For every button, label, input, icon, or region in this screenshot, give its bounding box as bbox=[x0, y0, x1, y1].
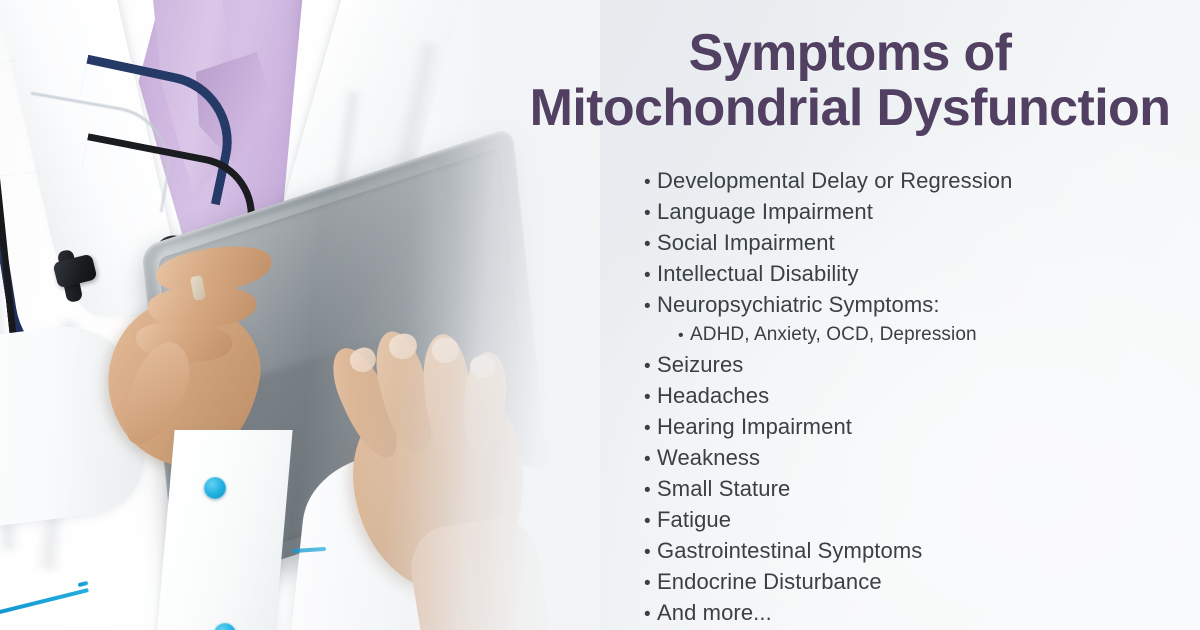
list-item-label: ADHD, Anxiety, OCD, Depression bbox=[690, 321, 977, 349]
bullet-icon: • bbox=[644, 507, 657, 536]
list-item-label: Fatigue bbox=[657, 505, 731, 534]
bullet-icon: • bbox=[644, 199, 657, 228]
bullet-icon: • bbox=[644, 168, 657, 197]
coat-button bbox=[204, 477, 226, 499]
bullet-icon: • bbox=[644, 292, 657, 321]
list-item: •Language Impairment bbox=[644, 197, 1200, 228]
list-item: •Neuropsychiatric Symptoms: bbox=[644, 290, 1200, 321]
list-item: •Headaches bbox=[644, 381, 1200, 412]
bullet-icon: • bbox=[644, 414, 657, 443]
list-item-label: Weakness bbox=[657, 443, 760, 472]
list-item-label: And more... bbox=[657, 598, 772, 627]
list-item: •Weakness bbox=[644, 443, 1200, 474]
doctor-photo bbox=[0, 0, 600, 630]
list-item: •Small Stature bbox=[644, 474, 1200, 505]
symptom-list: •Developmental Delay or Regression•Langu… bbox=[644, 166, 1200, 629]
bullet-icon: • bbox=[644, 383, 657, 412]
list-item-label: Language Impairment bbox=[657, 197, 873, 226]
title-line-1: Symptoms of bbox=[520, 26, 1180, 81]
list-item: •Endocrine Disturbance bbox=[644, 567, 1200, 598]
bullet-icon: • bbox=[644, 445, 657, 474]
list-item-label: Headaches bbox=[657, 381, 769, 410]
list-item: •Seizures bbox=[644, 350, 1200, 381]
list-item-label: Social Impairment bbox=[657, 228, 835, 257]
bullet-icon: • bbox=[644, 261, 657, 290]
list-item-label: Neuropsychiatric Symptoms: bbox=[657, 290, 940, 319]
bullet-icon: • bbox=[644, 352, 657, 381]
list-item: •Hearing Impairment bbox=[644, 412, 1200, 443]
infographic-canvas: Symptoms of Mitochondrial Dysfunction •D… bbox=[0, 0, 1200, 630]
bullet-icon: • bbox=[644, 569, 657, 598]
list-item: •ADHD, Anxiety, OCD, Depression bbox=[644, 321, 1200, 350]
list-item: •Gastrointestinal Symptoms bbox=[644, 536, 1200, 567]
bullet-icon: • bbox=[644, 538, 657, 567]
list-item-label: Intellectual Disability bbox=[657, 259, 859, 288]
content-panel: Symptoms of Mitochondrial Dysfunction •D… bbox=[520, 0, 1200, 630]
coat-placket bbox=[155, 430, 292, 630]
bullet-icon: • bbox=[644, 230, 657, 259]
page-title: Symptoms of Mitochondrial Dysfunction bbox=[520, 26, 1180, 136]
list-item-label: Endocrine Disturbance bbox=[657, 567, 882, 596]
list-item: •Developmental Delay or Regression bbox=[644, 166, 1200, 197]
bullet-icon: • bbox=[644, 476, 657, 505]
list-item: •And more... bbox=[644, 598, 1200, 629]
list-item-label: Seizures bbox=[657, 350, 743, 379]
title-line-2: Mitochondrial Dysfunction bbox=[520, 81, 1180, 136]
list-item-label: Gastrointestinal Symptoms bbox=[657, 536, 922, 565]
list-item: •Social Impairment bbox=[644, 228, 1200, 259]
list-item-label: Hearing Impairment bbox=[657, 412, 852, 441]
list-item-label: Small Stature bbox=[657, 474, 790, 503]
bullet-icon: • bbox=[678, 321, 690, 350]
bullet-icon: • bbox=[644, 600, 657, 629]
list-item: •Fatigue bbox=[644, 505, 1200, 536]
list-item: •Intellectual Disability bbox=[644, 259, 1200, 290]
list-item-label: Developmental Delay or Regression bbox=[657, 166, 1012, 195]
